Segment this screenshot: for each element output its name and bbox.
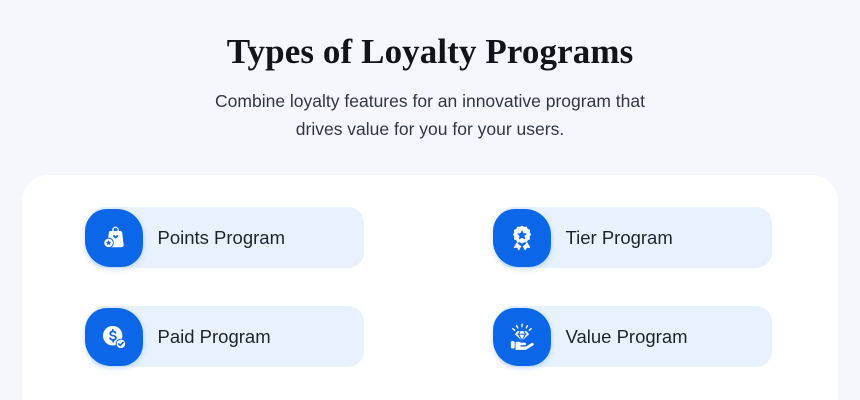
programs-grid: Points Program Tier Program <box>22 175 838 367</box>
program-card-label: Value Program <box>566 325 688 349</box>
program-card-points[interactable]: Points Program <box>89 207 364 268</box>
hand-diamond-icon <box>493 308 551 366</box>
card-cell: Points Program <box>22 207 430 268</box>
card-cell: Value Program <box>430 306 838 367</box>
program-card-label: Paid Program <box>158 325 271 349</box>
program-card-tier[interactable]: Tier Program <box>497 207 772 268</box>
shopping-bag-star-icon <box>85 209 143 267</box>
page-subtitle-line-2: drives value for you for your users. <box>0 115 860 143</box>
award-medal-star-icon <box>493 209 551 267</box>
program-card-value[interactable]: Value Program <box>497 306 772 367</box>
page-title: Types of Loyalty Programs <box>0 30 860 74</box>
program-card-paid[interactable]: Paid Program <box>89 306 364 367</box>
program-card-label: Points Program <box>158 226 286 250</box>
dollar-coin-check-icon <box>85 308 143 366</box>
programs-panel: Points Program Tier Program <box>22 175 838 400</box>
page-subtitle: Combine loyalty features for an innovati… <box>0 87 860 143</box>
card-cell: Tier Program <box>430 207 838 268</box>
card-cell: Paid Program <box>22 306 430 367</box>
header: Types of Loyalty Programs Combine loyalt… <box>0 0 860 143</box>
program-card-label: Tier Program <box>566 226 673 250</box>
page-subtitle-line-1: Combine loyalty features for an innovati… <box>0 87 860 115</box>
